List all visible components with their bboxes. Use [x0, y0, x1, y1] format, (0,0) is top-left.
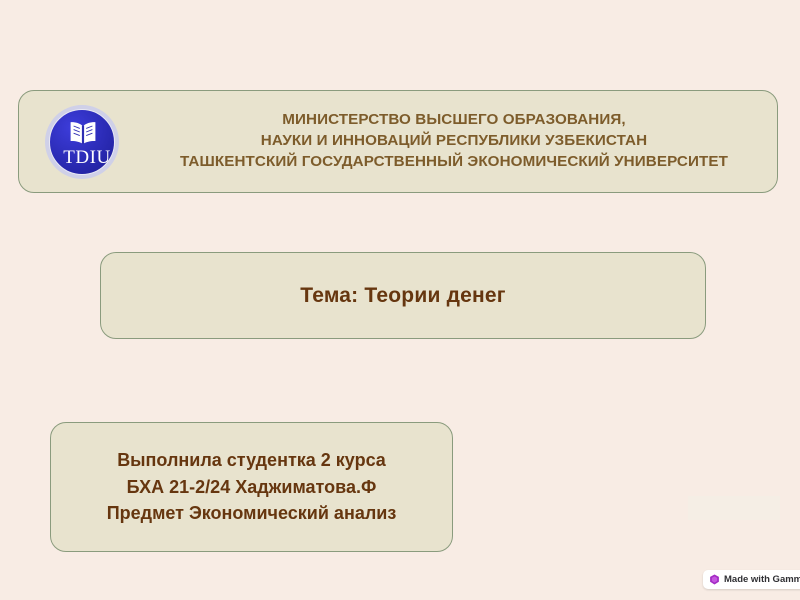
header-card: TDIU МИНИСТЕРСТВО ВЫСШЕГО ОБРАЗОВАНИЯ, Н… — [18, 90, 778, 193]
title-card: Тема: Теории денег — [100, 252, 706, 339]
open-book-icon — [64, 121, 102, 145]
logo-abbreviation: TDIU — [50, 148, 124, 167]
slide-title: Тема: Теории денег — [300, 284, 505, 308]
made-with-gamma-label: Made with Gamma — [724, 575, 800, 585]
presentation-slide: TDIU МИНИСТЕРСТВО ВЫСШЕГО ОБРАЗОВАНИЯ, Н… — [0, 0, 800, 600]
institution-line-2: НАУКИ И ИННОВАЦИЙ РЕСПУБЛИКИ УЗБЕКИСТАН — [261, 131, 647, 152]
author-card: Выполнила студентка 2 курса БХА 21-2/24 … — [50, 422, 453, 552]
institution-heading: МИНИСТЕРСТВО ВЫСШЕГО ОБРАЗОВАНИЯ, НАУКИ … — [131, 91, 777, 192]
institution-line-1: МИНИСТЕРСТВО ВЫСШЕГО ОБРАЗОВАНИЯ, — [282, 110, 625, 131]
author-line-1: Выполнила студентка 2 курса — [117, 447, 386, 473]
background-artifact-block — [688, 496, 780, 520]
university-logo: TDIU — [45, 105, 119, 179]
logo-disc: TDIU — [49, 109, 115, 175]
gamma-logo-icon — [709, 574, 720, 585]
institution-line-3: ТАШКЕНТСКИЙ ГОСУДАРСТВЕННЫЙ ЭКОНОМИЧЕСКИ… — [180, 152, 728, 173]
made-with-gamma-badge[interactable]: Made with Gamma — [703, 570, 800, 589]
author-line-3: Предмет Экономический анализ — [107, 500, 397, 526]
author-line-2: БХА 21-2/24 Хаджиматова.Ф — [127, 474, 377, 500]
